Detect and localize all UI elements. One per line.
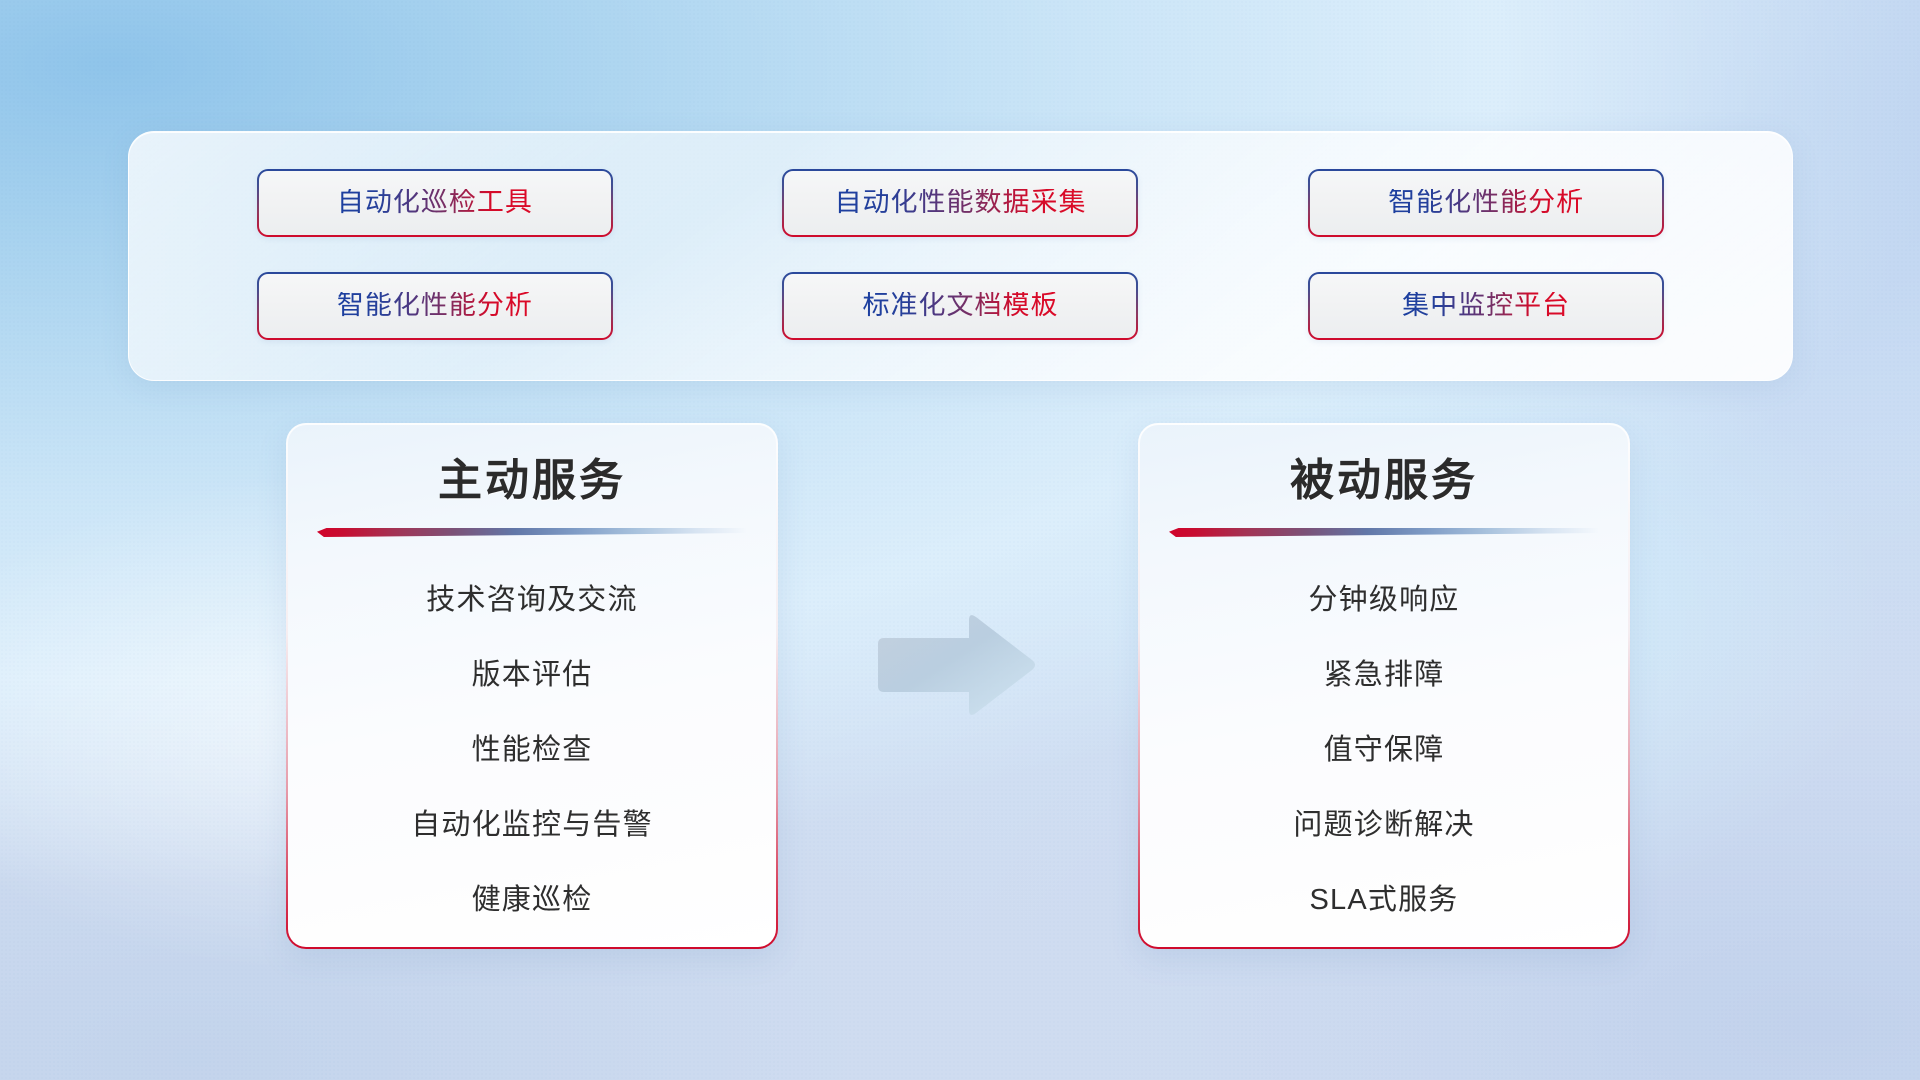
capability-chip-6[interactable]: 集中监控平台 xyxy=(1308,272,1664,340)
capability-chip-1-inner: 自动化巡检工具 xyxy=(259,171,611,235)
list-item[interactable]: 技术咨询及交流 xyxy=(426,563,637,638)
list-item[interactable]: 版本评估 xyxy=(472,638,593,713)
capability-chip-6-inner: 集中监控平台 xyxy=(1310,274,1662,338)
capability-chip-1-label: 自动化巡检工具 xyxy=(337,189,533,216)
capability-chip-4[interactable]: 智能化性能分析 xyxy=(257,272,613,340)
service-card-reactive[interactable]: 被动服务 分钟级响应 紧急排障 值守保障 问题诊断解决 SLA式服务 xyxy=(1138,423,1630,949)
list-item[interactable]: 健康巡检 xyxy=(472,863,593,938)
list-item[interactable]: SLA式服务 xyxy=(1309,863,1458,938)
service-card-reactive-inner: 被动服务 分钟级响应 紧急排障 值守保障 问题诊断解决 SLA式服务 xyxy=(1140,425,1628,947)
capability-chip-2-inner: 自动化性能数据采集 xyxy=(784,171,1136,235)
list-item[interactable]: 自动化监控与告警 xyxy=(411,788,653,863)
capability-chip-3[interactable]: 智能化性能分析 xyxy=(1308,169,1664,237)
divider-bar xyxy=(317,528,747,537)
list-item[interactable]: 问题诊断解决 xyxy=(1293,788,1474,863)
right-arrow-icon xyxy=(872,610,1038,720)
capability-chip-5-inner: 标准化文档模板 xyxy=(784,274,1136,338)
capability-chip-4-label: 智能化性能分析 xyxy=(337,292,533,319)
capability-chip-3-label: 智能化性能分析 xyxy=(1388,189,1584,216)
service-card-proactive-inner: 主动服务 技术咨询及交流 版本评估 性能检查 自动化监控与告警 健康巡检 xyxy=(288,425,776,947)
capability-chip-4-inner: 智能化性能分析 xyxy=(259,274,611,338)
service-card-reactive-list: 分钟级响应 紧急排障 值守保障 问题诊断解决 SLA式服务 xyxy=(1140,563,1628,938)
list-item[interactable]: 性能检查 xyxy=(472,713,593,788)
divider-bar xyxy=(1169,528,1599,537)
service-card-proactive-list: 技术咨询及交流 版本评估 性能检查 自动化监控与告警 健康巡检 xyxy=(288,563,776,938)
list-item[interactable]: 分钟级响应 xyxy=(1308,563,1459,638)
capability-panel: 自动化巡检工具 自动化性能数据采集 智能化性能分析 智能化性能分析 标准化文档模… xyxy=(128,131,1793,381)
service-card-reactive-title: 被动服务 xyxy=(1290,453,1478,508)
service-card-proactive-divider xyxy=(317,528,747,537)
capability-chip-5[interactable]: 标准化文档模板 xyxy=(782,272,1138,340)
capability-chip-1[interactable]: 自动化巡检工具 xyxy=(257,169,613,237)
capability-chip-2-label: 自动化性能数据采集 xyxy=(834,189,1086,216)
service-card-proactive-title: 主动服务 xyxy=(438,453,626,508)
capability-chip-3-inner: 智能化性能分析 xyxy=(1310,171,1662,235)
capability-chip-5-label: 标准化文档模板 xyxy=(862,292,1058,319)
service-card-proactive[interactable]: 主动服务 技术咨询及交流 版本评估 性能检查 自动化监控与告警 健康巡检 xyxy=(286,423,778,949)
capability-chip-6-label: 集中监控平台 xyxy=(1402,292,1570,319)
flow-arrow xyxy=(872,610,1038,720)
list-item[interactable]: 紧急排障 xyxy=(1324,638,1445,713)
service-card-reactive-divider xyxy=(1169,528,1599,537)
list-item[interactable]: 值守保障 xyxy=(1324,713,1445,788)
capability-chip-2[interactable]: 自动化性能数据采集 xyxy=(782,169,1138,237)
